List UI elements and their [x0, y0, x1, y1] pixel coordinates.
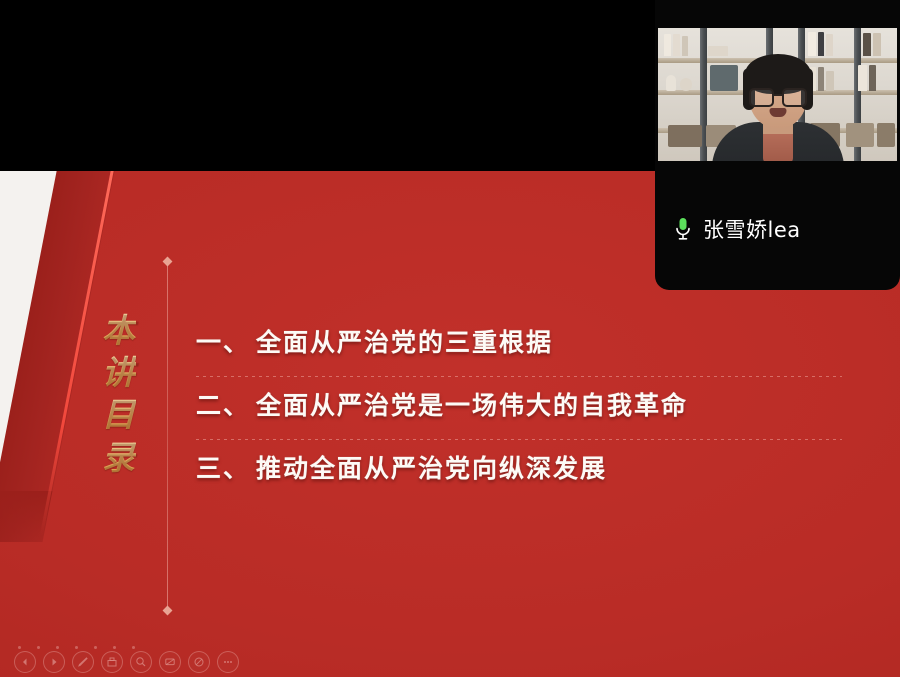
no-draw-button[interactable]	[188, 651, 210, 673]
screen-icon	[164, 656, 176, 668]
agenda-item-3-text: 推动全面从严治党向纵深发展	[256, 454, 607, 483]
stamp-tool-button[interactable]	[101, 651, 123, 673]
book	[664, 34, 671, 56]
agenda-item-3-number: 三、	[196, 454, 250, 483]
slash-circle-icon	[193, 656, 205, 668]
agenda-item-1-number: 一、	[196, 328, 250, 357]
progress-dot	[94, 646, 97, 649]
agenda-item-2: 二、全面从严治党是一场伟大的自我革命	[196, 381, 846, 444]
slide-progress-dots	[18, 646, 135, 649]
vertical-title-char-3: 目	[102, 394, 136, 436]
agenda-item-1-text: 全面从严治党的三重根据	[256, 328, 553, 357]
progress-dot	[113, 646, 116, 649]
participant-nameplate: 张雪娇lea	[673, 214, 801, 244]
progress-dot	[56, 646, 59, 649]
desk-item	[846, 123, 874, 147]
vase	[680, 78, 692, 91]
more-options-button[interactable]	[217, 651, 239, 673]
progress-dot	[132, 646, 135, 649]
book	[869, 65, 876, 91]
vase	[666, 75, 676, 91]
book	[682, 36, 688, 56]
progress-dot	[18, 646, 21, 649]
progress-dot	[37, 646, 40, 649]
agenda-item-2-number: 二、	[196, 391, 250, 420]
book	[808, 32, 816, 56]
previous-slide-button[interactable]	[14, 651, 36, 673]
person-mouth	[769, 108, 786, 117]
book	[858, 65, 867, 91]
agenda-separator-1	[196, 376, 842, 377]
agenda-item-3: 三、推动全面从严治党向纵深发展	[196, 444, 846, 507]
share-screen-button[interactable]	[159, 651, 181, 673]
agenda-item-2-text: 全面从严治党是一场伟大的自我革命	[256, 391, 688, 420]
book	[673, 34, 680, 56]
book	[863, 33, 871, 56]
book	[826, 71, 834, 91]
vertical-title-char-1: 本	[102, 310, 136, 352]
vertical-divider	[167, 262, 168, 610]
zoom-button[interactable]	[130, 651, 152, 673]
book	[873, 33, 881, 56]
screen-share-view: 本 讲 目 录 一、全面从严治党的三重根据 二、全面从严治党是一场伟大的自我革命	[0, 0, 900, 677]
pen-icon	[77, 656, 89, 668]
book	[826, 34, 833, 56]
book	[708, 46, 728, 56]
agenda-item-1: 一、全面从严治党的三重根据	[196, 318, 846, 381]
book	[818, 67, 824, 91]
pen-tool-button[interactable]	[72, 651, 94, 673]
microphone-icon[interactable]	[673, 216, 693, 242]
progress-dot	[75, 646, 78, 649]
vertical-title-char-2: 讲	[102, 352, 136, 394]
vertical-title-char-4: 录	[102, 437, 136, 479]
box	[710, 65, 738, 91]
desk-item	[877, 123, 895, 147]
eyeglasses-icon	[749, 88, 807, 103]
book	[818, 32, 824, 56]
slide-vertical-title: 本 讲 目 录	[92, 310, 146, 479]
participant-name: 张雪娇lea	[703, 214, 801, 244]
stamp-icon	[106, 656, 118, 668]
desk-item	[668, 125, 702, 147]
agenda-list: 一、全面从严治党的三重根据 二、全面从严治党是一场伟大的自我革命 三、推动全面从…	[196, 318, 846, 507]
ellipsis-icon	[222, 656, 234, 668]
magnifier-icon	[135, 656, 147, 668]
diamond-cap-top-icon	[163, 257, 173, 267]
chevron-left-icon	[20, 657, 30, 667]
participant-video-feed	[658, 28, 897, 161]
play-icon	[49, 657, 59, 667]
annotation-toolbar[interactable]	[14, 651, 239, 673]
agenda-separator-2	[196, 439, 842, 440]
participant-video-tile[interactable]: 张雪娇lea	[655, 0, 900, 290]
diamond-cap-bottom-icon	[163, 606, 173, 616]
play-button[interactable]	[43, 651, 65, 673]
